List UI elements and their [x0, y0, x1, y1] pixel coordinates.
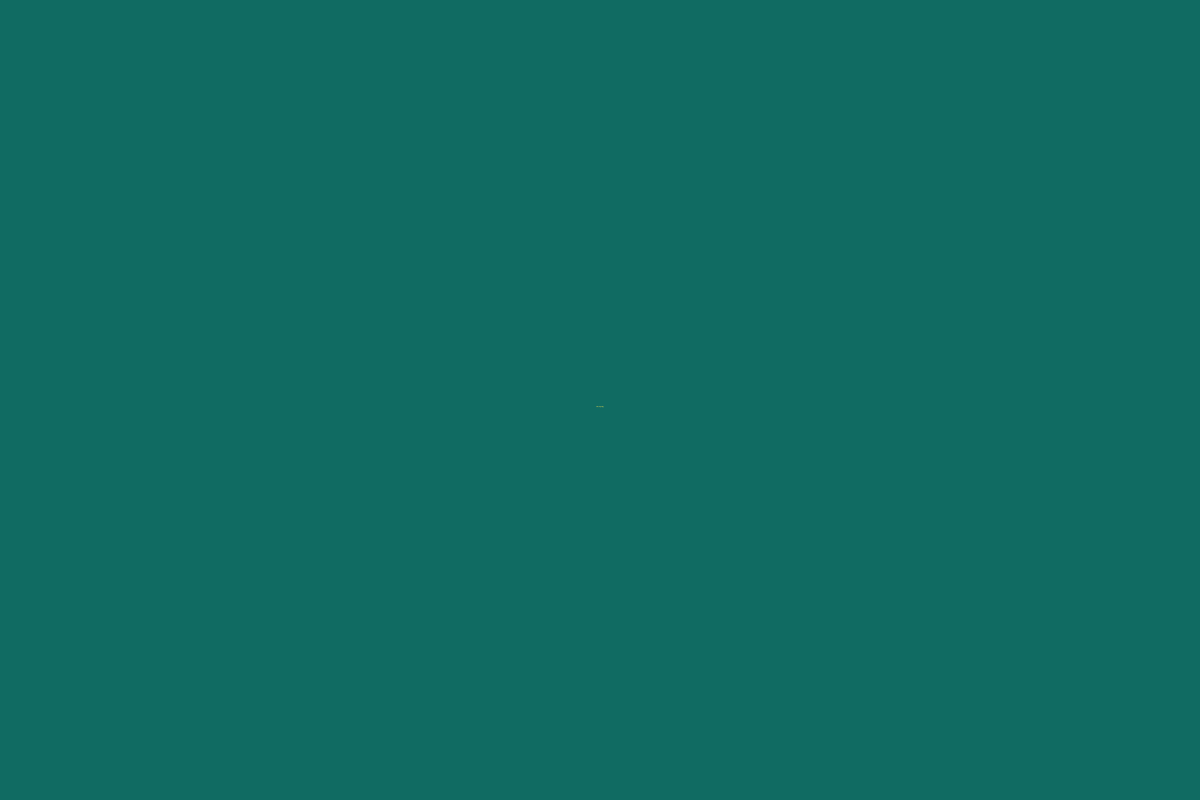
headline-block: 구직등록확인증 재발급 자기소개서 필수 여부: [0, 407, 1200, 408]
thumbnail-canvas: 구직등록확인증 재발급 자기소개서 필수 여부: [0, 0, 1200, 800]
